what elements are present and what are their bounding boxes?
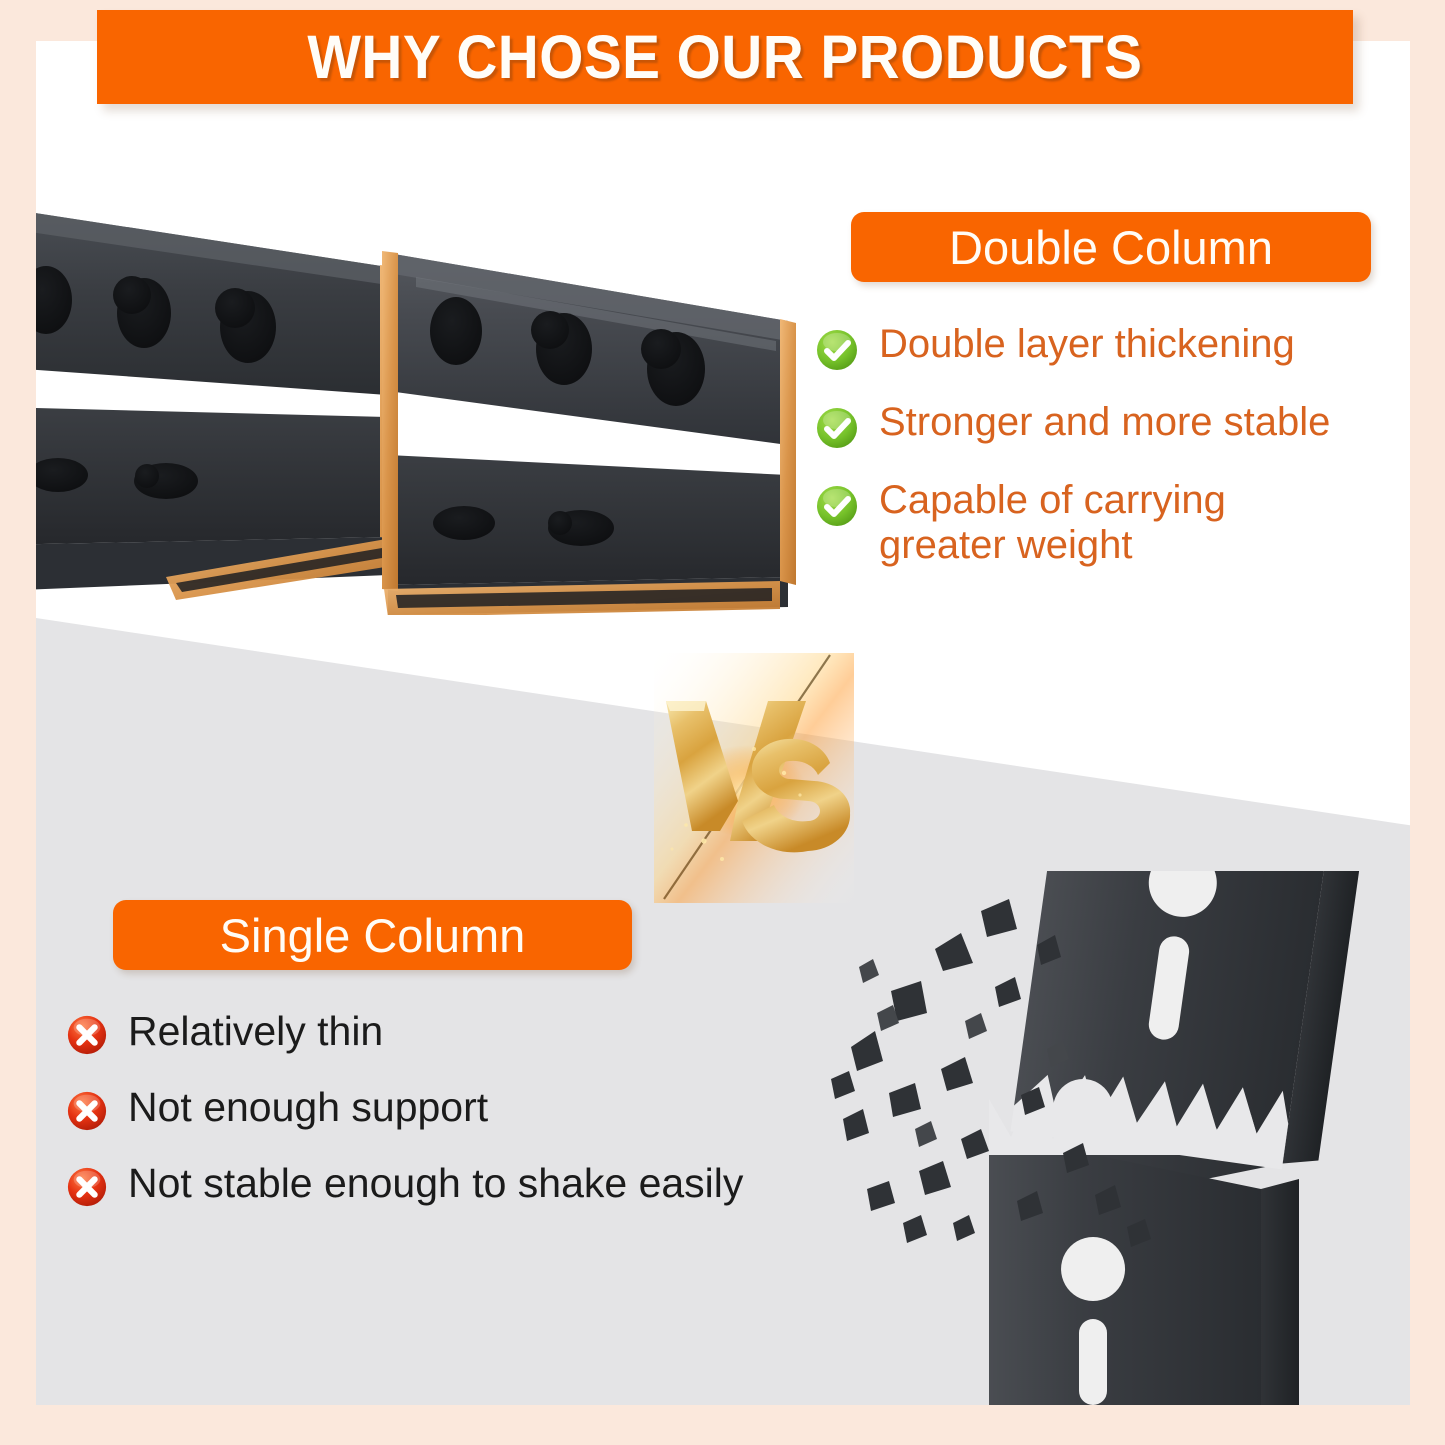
list-item: Double layer thickening	[815, 322, 1395, 372]
badge-single-column-label: Single Column	[220, 912, 526, 959]
list-item: Not enough support	[66, 1085, 856, 1132]
broken-single-column-post-photo	[831, 871, 1410, 1405]
header-banner: WHY CHOSE OUR PRODUCTS	[97, 10, 1353, 104]
page-title: WHY CHOSE OUR PRODUCTS	[308, 27, 1143, 88]
cross-circle-icon	[66, 1090, 108, 1132]
list-item: Relatively thin	[66, 1009, 856, 1056]
list-item-label: Capable of carrying greater weight	[879, 478, 1299, 568]
list-item-label: Not stable enough to shake easily	[128, 1161, 743, 1207]
cross-circle-icon	[66, 1014, 108, 1056]
badge-double-column-label: Double Column	[949, 224, 1273, 271]
list-item-label: Relatively thin	[128, 1009, 383, 1055]
list-item: Stronger and more stable	[815, 400, 1395, 450]
badge-single-column: Single Column	[113, 900, 632, 970]
list-item: Capable of carrying greater weight	[815, 478, 1395, 568]
versus-graphic	[634, 653, 894, 903]
double-column-steel-rails-photo	[36, 145, 826, 615]
list-item: Not stable enough to shake easily	[66, 1161, 856, 1208]
check-circle-icon	[815, 328, 859, 372]
list-item-label: Double layer thickening	[879, 322, 1295, 367]
list-item-label: Not enough support	[128, 1085, 488, 1131]
infographic-poster: Double Column	[0, 0, 1445, 1445]
double-column-feature-list: Double layer thickening Stronger and mor…	[815, 322, 1395, 596]
list-item-label: Stronger and more stable	[879, 400, 1330, 445]
single-column-feature-list: Relatively thin Not enough support	[66, 1009, 856, 1237]
check-circle-icon	[815, 484, 859, 528]
cross-circle-icon	[66, 1166, 108, 1208]
badge-double-column: Double Column	[851, 212, 1371, 282]
content-card: Double Column	[36, 41, 1410, 1405]
check-circle-icon	[815, 406, 859, 450]
